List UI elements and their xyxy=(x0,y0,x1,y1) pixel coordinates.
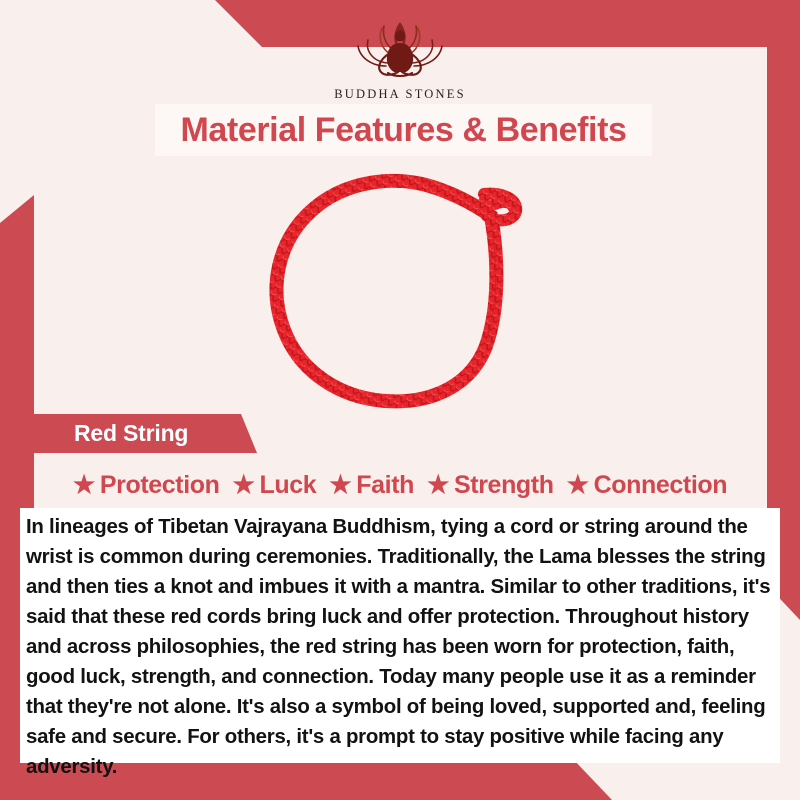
title-band: Material Features & Benefits xyxy=(155,104,652,156)
banner-label: Red String xyxy=(74,420,188,447)
page-title: Material Features & Benefits xyxy=(155,104,652,156)
benefit-label: Connection xyxy=(594,471,728,500)
star-icon: ★ xyxy=(329,473,351,498)
benefit-label: Protection xyxy=(100,471,220,500)
star-icon: ★ xyxy=(567,473,589,498)
description-block: In lineages of Tibetan Vajrayana Buddhis… xyxy=(20,508,780,763)
star-icon: ★ xyxy=(73,473,95,498)
benefit-connection: ★ Connection xyxy=(567,471,728,500)
infographic-page: BUDDHA STONES Material Features & Benefi… xyxy=(0,0,800,800)
brand-name: BUDDHA STONES xyxy=(334,87,466,102)
benefit-luck: ★ Luck xyxy=(233,471,317,500)
benefit-label: Luck xyxy=(260,471,317,500)
star-icon: ★ xyxy=(233,473,255,498)
benefit-strength: ★ Strength xyxy=(427,471,554,500)
benefit-faith: ★ Faith xyxy=(329,471,414,500)
star-icon: ★ xyxy=(427,473,449,498)
benefit-protection: ★ Protection xyxy=(73,471,220,500)
brand-logo: BUDDHA STONES xyxy=(0,13,800,102)
benefit-label: Strength xyxy=(454,471,554,500)
benefit-label: Faith xyxy=(356,471,414,500)
benefits-row: ★ Protection ★ Luck ★ Faith ★ Strength ★… xyxy=(30,468,770,502)
product-image-red-string-bracelet xyxy=(248,160,568,415)
lotus-meditation-icon xyxy=(338,13,462,83)
material-banner: Red String xyxy=(18,414,257,453)
description-text: In lineages of Tibetan Vajrayana Buddhis… xyxy=(26,512,774,782)
